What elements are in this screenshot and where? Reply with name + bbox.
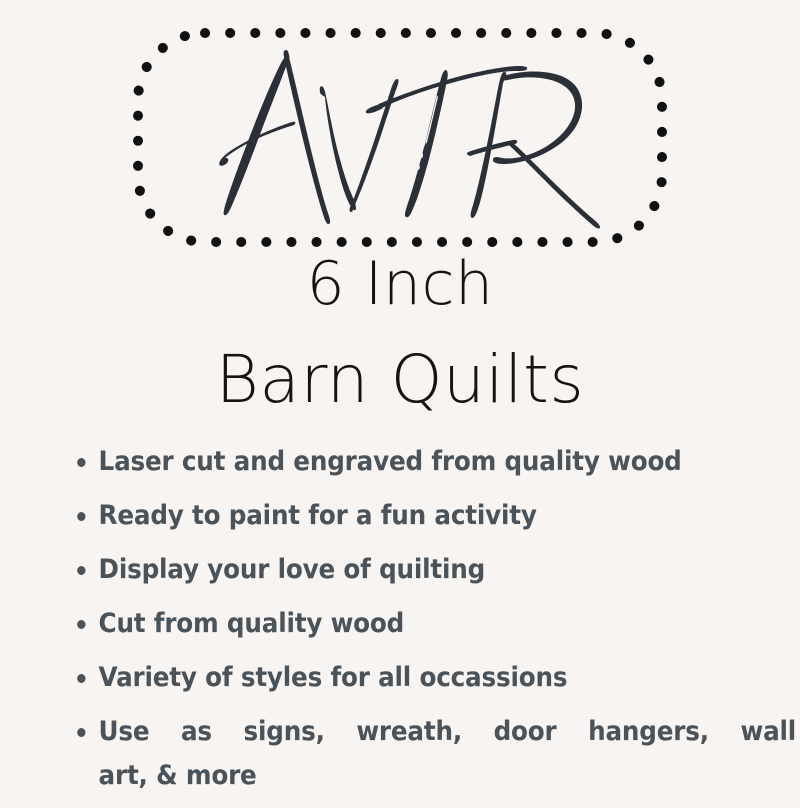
list-item: Laser cut and engraved from quality wood xyxy=(66,440,728,484)
bullet-dot-icon xyxy=(77,512,85,521)
list-item-label-line2: art, & more xyxy=(99,754,797,798)
list-item-label: Laser cut and engraved from quality wood xyxy=(99,440,729,484)
list-item-label: Ready to paint for a fun activity xyxy=(99,494,729,538)
avtr-script-icon xyxy=(185,43,615,233)
product-infographic: 6 Inch Barn Quilts Laser cut and engrave… xyxy=(0,0,800,800)
list-item-label: Cut from quality wood xyxy=(99,602,729,646)
list-item: Variety of styles for all occassions xyxy=(66,656,728,700)
product-name-heading: Barn Quilts xyxy=(0,317,800,417)
list-item: Ready to paint for a fun activity xyxy=(66,494,728,538)
list-item-label-line1: Use as signs, wreath, door hangers, wall xyxy=(99,710,797,754)
product-title-block: 6 Inch Barn Quilts xyxy=(0,252,800,417)
bullet-dot-icon xyxy=(77,674,85,683)
bullet-dot-icon xyxy=(77,566,85,575)
bullet-dot-icon xyxy=(77,620,85,629)
logo-badge xyxy=(133,28,667,247)
list-item-label: Variety of styles for all occassions xyxy=(99,656,729,700)
bullet-dot-icon xyxy=(77,458,85,467)
list-item-label: Use as signs, wreath, door hangers, wall… xyxy=(99,710,797,798)
list-item: Use as signs, wreath, door hangers, wall… xyxy=(66,710,728,798)
list-item: Display your love of quilting xyxy=(66,548,728,592)
list-item-label: Display your love of quilting xyxy=(99,548,729,592)
avtr-wordmark xyxy=(133,28,667,247)
list-item: Cut from quality wood xyxy=(66,602,728,646)
feature-list: Laser cut and engraved from quality wood… xyxy=(66,440,778,808)
size-heading: 6 Inch xyxy=(0,252,800,317)
bullet-dot-icon xyxy=(77,728,85,737)
